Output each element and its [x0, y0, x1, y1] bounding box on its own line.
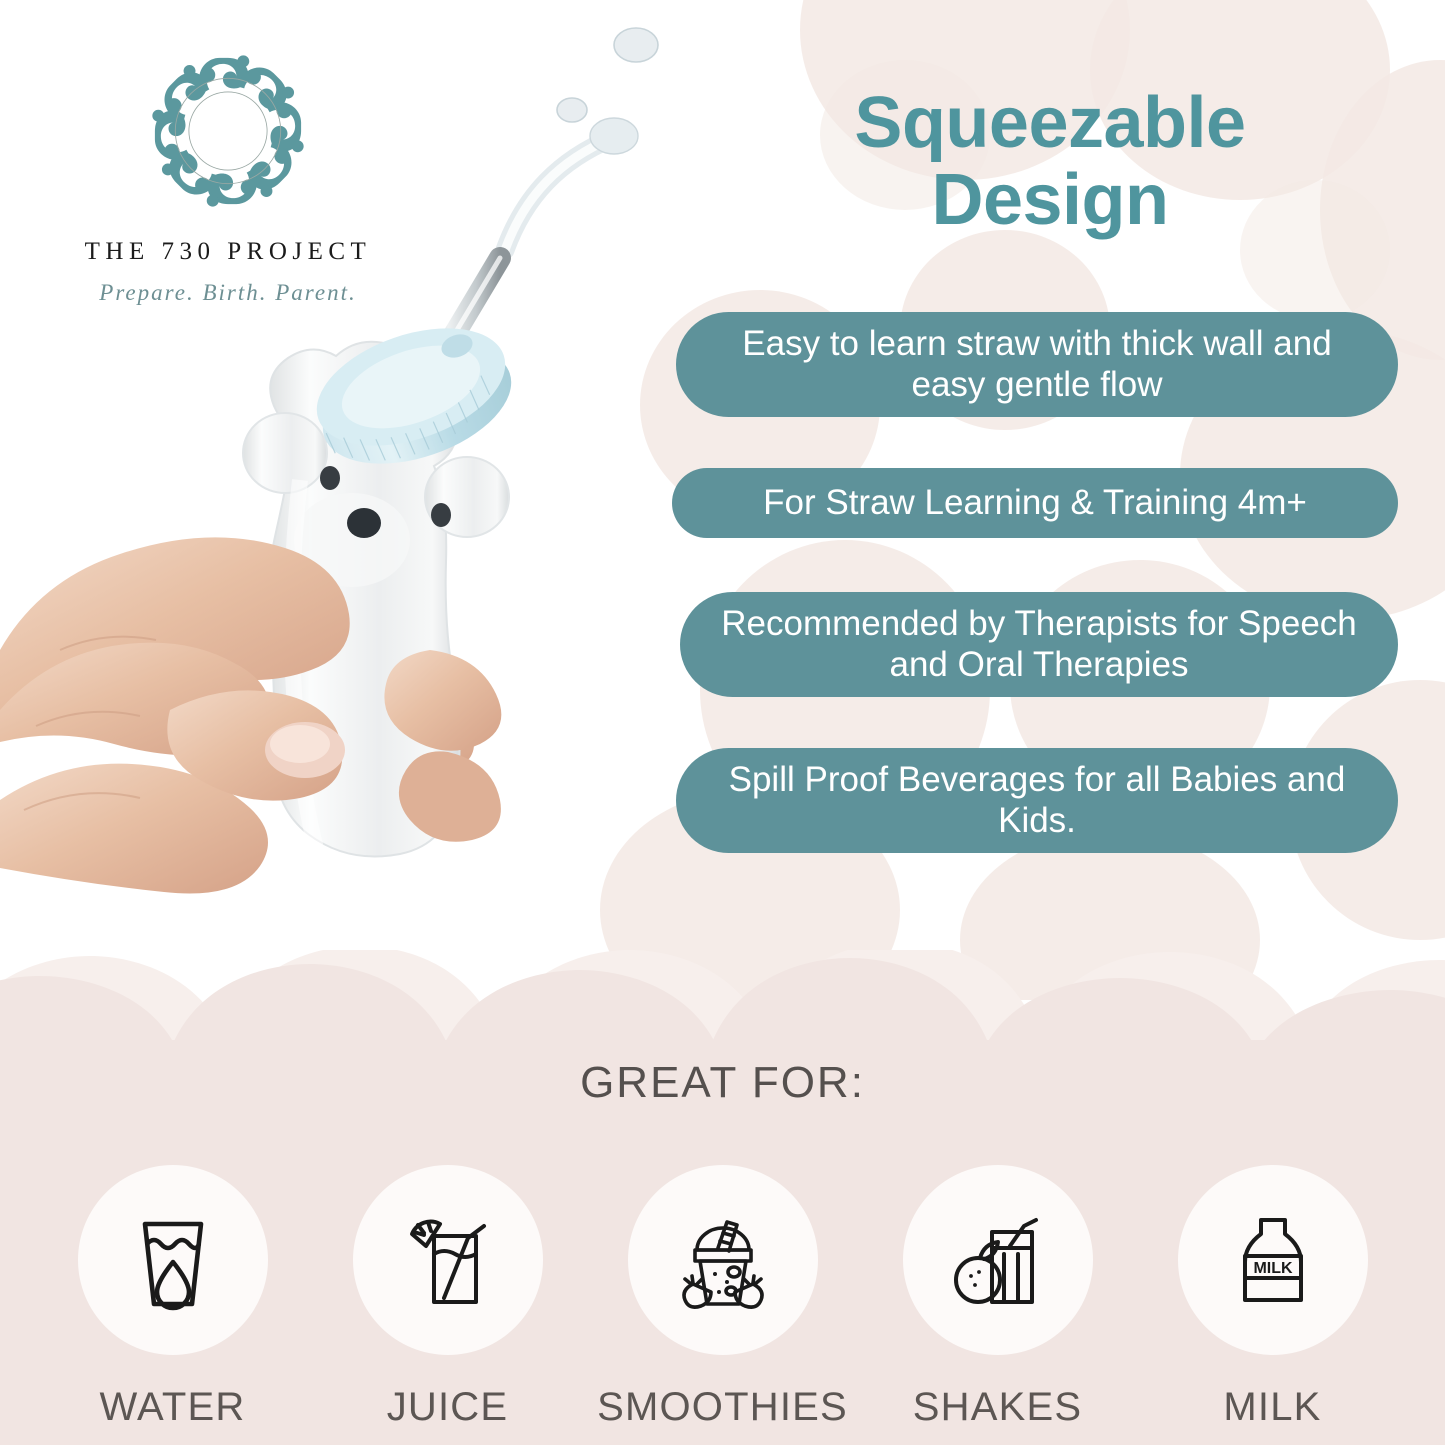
shake-glass-orange-straw-icon — [938, 1200, 1058, 1320]
use-item-shakes: SHAKES — [873, 1165, 1123, 1430]
use-label: MILK — [1223, 1385, 1321, 1430]
feature-list: Easy to learn straw with thick wall and … — [0, 0, 1445, 1000]
use-icon-circle — [78, 1165, 268, 1355]
uses-heading: GREAT FOR: — [0, 1058, 1445, 1108]
use-icon-circle — [353, 1165, 543, 1355]
feature-pill: For Straw Learning & Training 4m+ — [672, 468, 1398, 538]
smoothie-cup-strawberries-icon — [663, 1200, 783, 1320]
use-icon-circle — [903, 1165, 1093, 1355]
use-icon-circle: MILK — [1178, 1165, 1368, 1355]
feature-pill: Easy to learn straw with thick wall and … — [676, 312, 1398, 417]
use-label: WATER — [100, 1385, 246, 1430]
water-glass-droplet-icon — [113, 1200, 233, 1320]
use-label: SHAKES — [913, 1385, 1083, 1430]
use-icon-circle — [628, 1165, 818, 1355]
feature-pill: Recommended by Therapists for Speech and… — [680, 592, 1398, 697]
use-label: SMOOTHIES — [597, 1385, 848, 1430]
milk-bottle-label: MILK — [1253, 1260, 1293, 1277]
use-item-water: WATER — [48, 1165, 298, 1430]
use-label: JUICE — [387, 1385, 509, 1430]
use-item-milk: MILK MILK — [1148, 1165, 1398, 1430]
uses-list: WATER JUICE — [0, 1165, 1445, 1430]
use-item-juice: JUICE — [323, 1165, 573, 1430]
milk-bottle-icon: MILK — [1213, 1200, 1333, 1320]
feature-pill: Spill Proof Beverages for all Babies and… — [676, 748, 1398, 853]
juice-glass-lemon-straw-icon — [388, 1200, 508, 1320]
product-infographic: THE 730 PROJECT Prepare. Birth. Parent. — [0, 0, 1445, 1445]
use-item-smoothies: SMOOTHIES — [598, 1165, 848, 1430]
